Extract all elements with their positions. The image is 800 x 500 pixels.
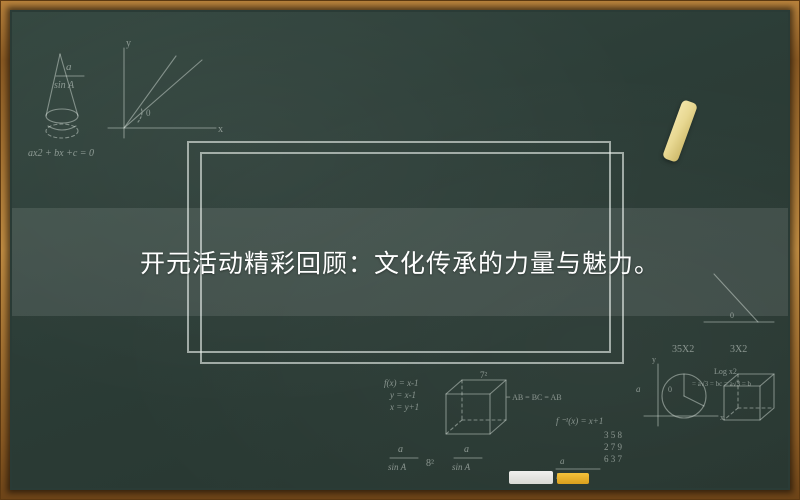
- svg-text:a: a: [398, 444, 403, 455]
- svg-text:sin A: sin A: [388, 462, 407, 472]
- svg-text:3X2: 3X2: [730, 344, 747, 355]
- svg-text:7²: 7²: [480, 370, 488, 380]
- svg-text:f ⁻¹(x) = x+1: f ⁻¹(x) = x+1: [556, 416, 603, 426]
- svg-text:= a√3 = bc = a√3 = b: = a√3 = bc = a√3 = b: [692, 380, 752, 388]
- svg-text:2 7 9: 2 7 9: [604, 442, 623, 452]
- svg-text:sin A: sin A: [452, 462, 471, 472]
- svg-text:y: y: [126, 38, 131, 49]
- svg-text:a: a: [636, 384, 641, 394]
- svg-text:a: a: [66, 61, 72, 73]
- svg-text:35X2: 35X2: [672, 344, 694, 355]
- svg-text:x: x: [720, 413, 724, 422]
- chalk-stick-icon: [662, 99, 698, 163]
- svg-text:6 3 7: 6 3 7: [604, 454, 623, 464]
- svg-text:3 5 8: 3 5 8: [604, 430, 623, 440]
- eraser-icon: [509, 471, 553, 484]
- banner-title: 开元活动精彩回顾：文化传承的力量与魅力。: [12, 208, 788, 316]
- svg-text:8²: 8²: [426, 458, 434, 469]
- svg-text:f(x) = x-1: f(x) = x-1: [384, 378, 419, 388]
- svg-text:0: 0: [668, 385, 672, 394]
- svg-text:x: x: [218, 124, 223, 135]
- chalkboard-surface: a sin A y x 0 ax2 + bx +c = 0 f(x) = x-1…: [12, 12, 788, 488]
- svg-text:0: 0: [146, 108, 151, 118]
- svg-text:y: y: [652, 355, 656, 364]
- svg-text:a: a: [560, 456, 565, 466]
- svg-text:y = x-1: y = x-1: [389, 390, 416, 400]
- svg-text:ax2 + bx +c = 0: ax2 + bx +c = 0: [28, 148, 94, 159]
- svg-text:a: a: [464, 444, 469, 455]
- svg-text:x = y+1: x = y+1: [389, 402, 419, 412]
- yellow-chalk-icon: [557, 473, 589, 484]
- svg-text:Log x2: Log x2: [714, 367, 737, 376]
- chalkboard-banner: a sin A y x 0 ax2 + bx +c = 0 f(x) = x-1…: [0, 0, 800, 500]
- chalk-sketch-bottom-right: 35X2 3X2 Log x2 y x 0 a = a√3 = bc = a√3…: [626, 330, 786, 470]
- svg-text:= AB = BC = AB: = AB = BC = AB: [506, 393, 562, 402]
- svg-text:sin A: sin A: [54, 80, 75, 91]
